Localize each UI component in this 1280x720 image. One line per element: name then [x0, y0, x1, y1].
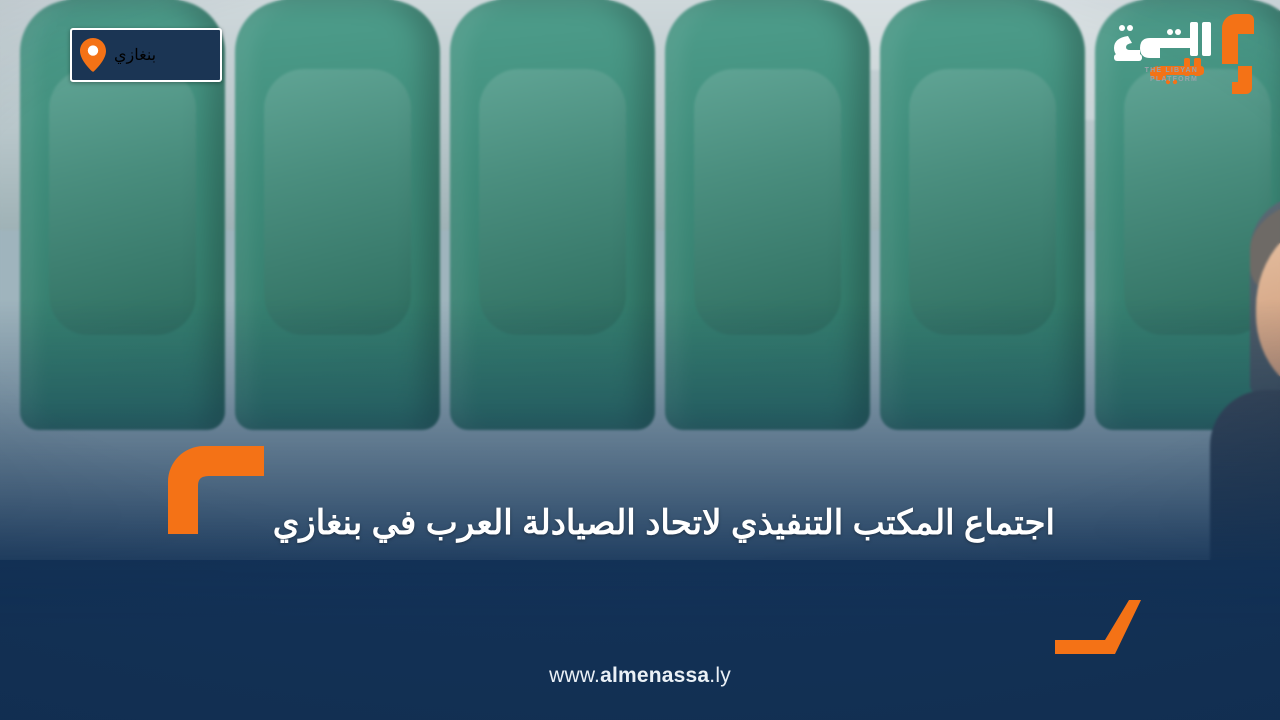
logo-latin-line1: THE LIBYAN — [1145, 67, 1198, 74]
site-url-tld: .ly — [709, 664, 731, 687]
location-badge[interactable]: بنغازي — [70, 28, 222, 82]
headline: اجتماع المكتب التنفيذي لاتحاد الصيادلة ا… — [215, 498, 1055, 550]
site-url[interactable]: www.almenassa.ly — [0, 664, 1280, 688]
brand-logo[interactable]: THE LIBYAN PLATFORM — [1098, 8, 1268, 100]
map-pin-icon — [80, 38, 106, 72]
news-card: بنغازي — [0, 0, 1280, 720]
bracket-bottom-right-icon — [1055, 600, 1141, 654]
logo-arabic-main — [1114, 22, 1211, 61]
site-url-prefix: www. — [549, 664, 600, 687]
logo-latin-line2: PLATFORM — [1150, 76, 1198, 83]
location-label: بنغازي — [114, 45, 156, 65]
site-url-name: almenassa — [600, 664, 709, 687]
